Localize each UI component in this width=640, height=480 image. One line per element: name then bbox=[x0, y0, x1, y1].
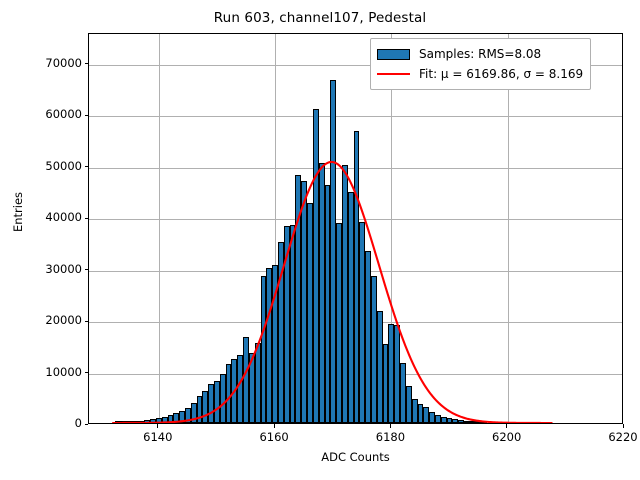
x-tick-mark bbox=[623, 424, 624, 428]
legend-label-fit: Fit: μ = 6169.86, σ = 8.169 bbox=[419, 67, 583, 81]
y-tick-mark bbox=[85, 321, 89, 322]
legend-label-samples: Samples: RMS=8.08 bbox=[419, 47, 541, 61]
legend-item-samples: Samples: RMS=8.08 bbox=[377, 44, 583, 64]
y-tick-mark bbox=[85, 218, 89, 219]
x-tick-label: 6200 bbox=[467, 430, 547, 444]
y-tick-mark bbox=[85, 166, 89, 167]
page-title: Run 603, channel107, Pedestal bbox=[0, 10, 640, 26]
y-tick-mark bbox=[85, 269, 89, 270]
x-tick-mark bbox=[506, 424, 507, 428]
y-tick-label: 40000 bbox=[45, 210, 82, 224]
y-tick-label: 0 bbox=[75, 416, 82, 430]
y-axis-label: Entries bbox=[11, 132, 25, 292]
y-tick-mark bbox=[85, 424, 89, 425]
x-tick-mark bbox=[157, 424, 158, 428]
x-tick-label: 6180 bbox=[350, 430, 430, 444]
y-tick-label: 10000 bbox=[45, 365, 82, 379]
x-tick-mark bbox=[274, 424, 275, 428]
chart-figure: Run 603, channel107, Pedestal 0100002000… bbox=[0, 0, 640, 480]
gridline-vertical bbox=[159, 34, 160, 423]
y-tick-mark bbox=[85, 63, 89, 64]
y-tick-label: 30000 bbox=[45, 262, 82, 276]
gridline-horizontal bbox=[89, 116, 622, 117]
x-tick-label: 6220 bbox=[583, 430, 640, 444]
plot-area bbox=[88, 33, 623, 424]
legend-item-fit: Fit: μ = 6169.86, σ = 8.169 bbox=[377, 64, 583, 84]
x-axis-label: ADC Counts bbox=[88, 450, 623, 464]
y-tick-label: 50000 bbox=[45, 159, 82, 173]
legend-line-icon bbox=[377, 73, 410, 75]
y-tick-label: 70000 bbox=[45, 56, 82, 70]
x-tick-label: 6140 bbox=[118, 430, 198, 444]
x-tick-label: 6160 bbox=[234, 430, 314, 444]
gridline-vertical bbox=[508, 34, 509, 423]
chart-legend: Samples: RMS=8.08 Fit: μ = 6169.86, σ = … bbox=[370, 38, 591, 90]
y-tick-mark bbox=[85, 372, 89, 373]
y-tick-mark bbox=[85, 115, 89, 116]
y-tick-label: 60000 bbox=[45, 107, 82, 121]
histogram-bar bbox=[482, 421, 488, 423]
y-tick-label: 20000 bbox=[45, 313, 82, 327]
legend-patch-icon bbox=[377, 49, 410, 60]
x-tick-mark bbox=[390, 424, 391, 428]
